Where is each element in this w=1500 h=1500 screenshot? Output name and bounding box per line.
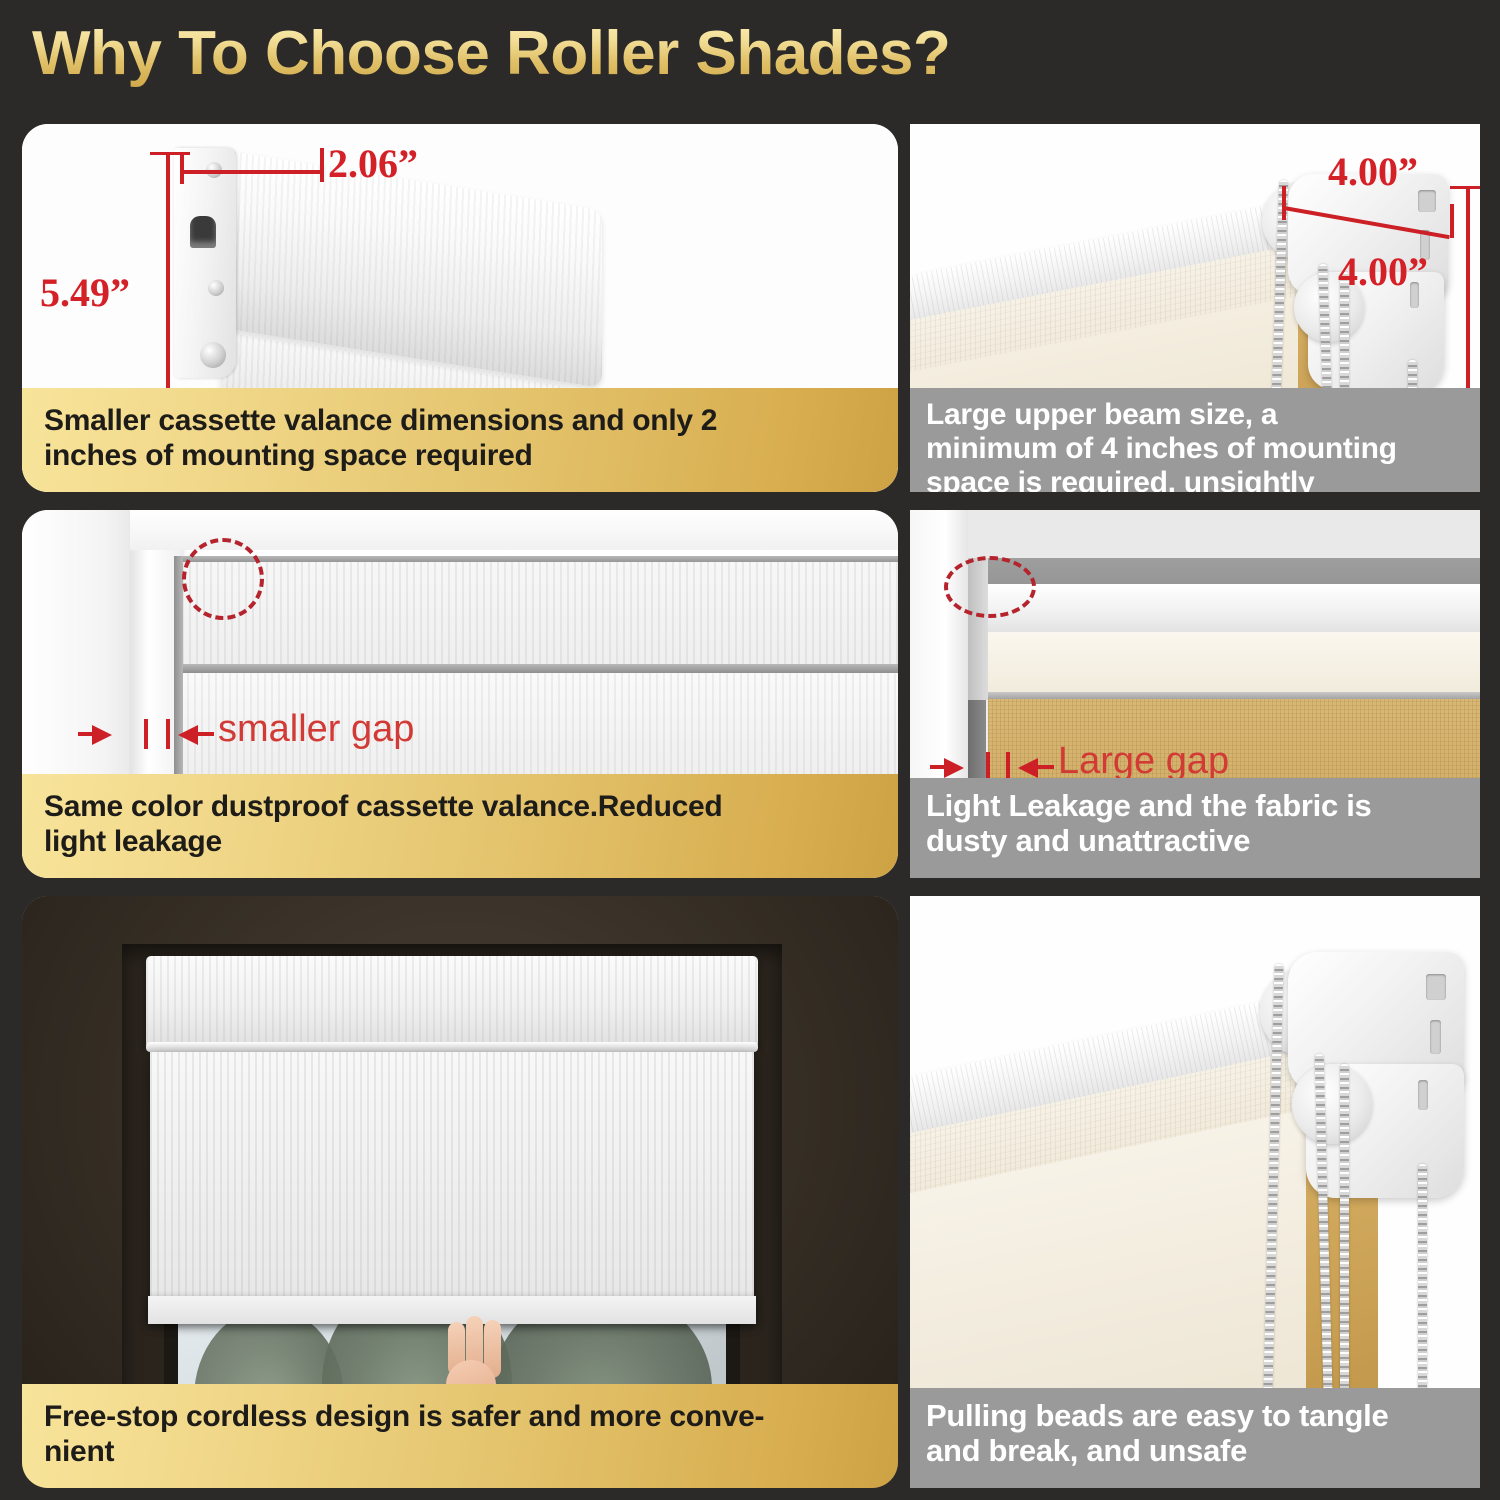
caption-line-2: nient [44,1435,876,1470]
width-dim-tick-left [180,154,184,184]
valance-screw-bottom [200,342,226,368]
page-title: Why To Choose Roller Shades? [32,18,950,89]
caption-line-2: and break, and unsafe [926,1433,1464,1468]
width-dim-line [182,170,324,174]
height-dimension-label: 5.49” [40,269,130,316]
width-dim-tick-right [320,148,324,182]
bracket-slot-2 [1430,1020,1441,1054]
beam-width-tick-right [1450,204,1454,238]
caption-line-1: Free-stop cordless design is safer and m… [44,1400,876,1435]
large-gap-label: Large gap [1058,740,1229,783]
panel-caption-smaller-gap: Same color dustproof cassette valance.Re… [22,774,898,878]
gap-bar-right [166,719,170,749]
panel-large-upper-beam: 4.00” 4.00” Large upper beam size, a min… [910,124,1480,492]
beam-width-dimension-label: 4.00” [1328,148,1418,195]
gap-bar-left [144,719,148,749]
bracket-slot-1 [1418,190,1436,212]
valance-rail [146,1042,758,1052]
caption-line-2: minimum of 4 inches of mounting [926,432,1464,466]
caption-line-1: Pulling beads are easy to tangle [926,1398,1464,1433]
caption-line-1: Large upper beam size, a [926,398,1464,432]
cream-fabric-band [982,632,1480,694]
panel-cassette-valance: 2.06” 5.49” Smaller cassette valance dim… [22,124,898,492]
shade-fabric [150,1052,754,1320]
gap-arrow-left [1018,758,1038,778]
beam-width-tick-left [1282,186,1286,220]
beam-height-tick-top [1450,186,1480,189]
gap-arrow-left-stem [1038,765,1054,769]
valance-cap-notch [190,216,216,248]
panel-light-leakage: Large gap Light Leakage and the fabric i… [910,510,1480,878]
fabric-edge-rail [982,692,1480,699]
caption-line-1: Smaller cassette valance dimensions and … [44,404,876,439]
width-dimension-label: 2.06” [328,140,418,187]
valance-screw-mid [208,280,224,296]
beam-height-dim-line [1466,186,1470,396]
panel-smaller-gap: smaller gap Same color dustproof cassett… [22,510,898,878]
caption-line-1: Same color dustproof cassette valance.Re… [44,790,876,825]
panel-caption-cordless-design: Free-stop cordless design is safer and m… [22,1384,898,1488]
panel-caption-cassette-valance: Smaller cassette valance dimensions and … [22,388,898,492]
bracket-slot-1 [1426,974,1446,1000]
gap-arrow-right-stem [930,765,948,769]
comparison-grid: 2.06” 5.49” Smaller cassette valance dim… [0,112,1500,1500]
panel-cordless-design: Free-stop cordless design is safer and m… [22,896,898,1488]
cassette-valance [146,956,758,1048]
panel-caption-light-leakage: Light Leakage and the fabric is dusty an… [910,778,1480,878]
panel-caption-large-upper-beam: Large upper beam size, a minimum of 4 in… [910,388,1480,492]
caption-line-2: dusty and unattractive [926,823,1464,858]
hem-bar [148,1296,756,1324]
gap-highlight-circle [182,538,264,620]
panel-pulling-beads: Pulling beads are easy to tangle and bre… [910,896,1480,1488]
panel-caption-pulling-beads: Pulling beads are easy to tangle and bre… [910,1388,1480,1488]
bracket-slot-3 [1418,1080,1428,1110]
gap-arrow-left-stem [198,732,214,736]
roller-end-cap-lower [1292,1064,1372,1144]
wall-top [910,510,1480,558]
valance-bottom-rail [180,664,898,673]
gap-arrow-right-stem [78,732,96,736]
caption-line-3: space is required, unsightly [926,466,1464,492]
smaller-gap-label: smaller gap [218,708,414,751]
gap-arrow-left [178,725,198,745]
gap-highlight-circle [944,556,1036,618]
beam-height-dimension-label: 4.00” [1338,248,1428,295]
caption-line-2: inches of mounting space required [44,439,876,474]
caption-line-1: Light Leakage and the fabric is [926,788,1464,823]
caption-line-2: light leakage [44,825,876,860]
height-dim-tick-top [150,152,190,155]
